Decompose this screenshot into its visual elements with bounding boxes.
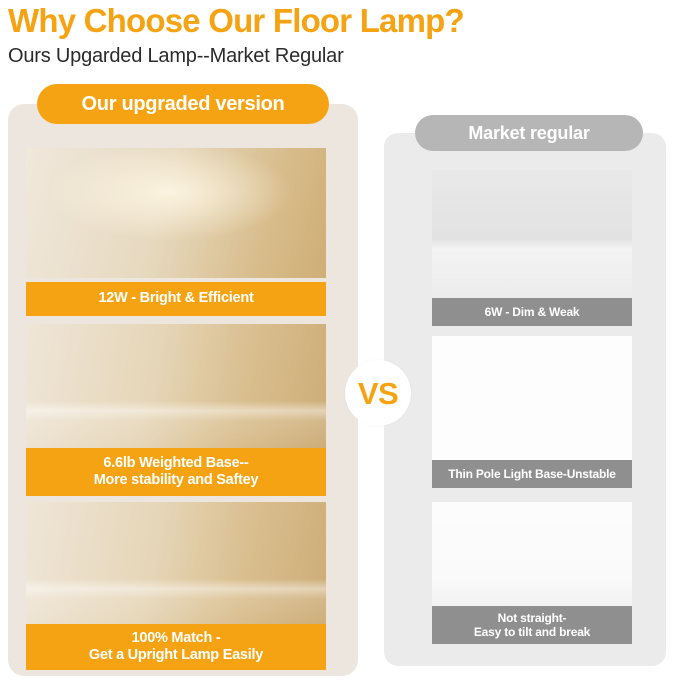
page-title: Why Choose Our Floor Lamp? bbox=[8, 2, 668, 40]
cool-gray-background bbox=[432, 170, 632, 296]
market-pole-caption-line2: Easy to tilt and break bbox=[474, 625, 590, 639]
ours-pole-caption: 100% Match - Get a Upright Lamp Easily bbox=[26, 624, 326, 670]
market-bulb-caption-line1: 6W - Dim & Weak bbox=[485, 305, 580, 319]
market-card-pole: Not straight- Easy to tilt and break bbox=[432, 502, 632, 644]
warm-gradient-background bbox=[26, 324, 326, 448]
ours-base-media bbox=[26, 324, 326, 448]
white-background-2 bbox=[432, 502, 632, 606]
market-pole-media bbox=[432, 502, 632, 606]
ours-bulb-media bbox=[26, 148, 326, 278]
ours-base-caption: 6.6lb Weighted Base-- More stability and… bbox=[26, 448, 326, 496]
badge-our-upgraded-version-label: Our upgraded version bbox=[82, 93, 285, 116]
ours-base-caption-line2: More stability and Saftey bbox=[94, 472, 259, 489]
badge-market-regular: Market regular bbox=[415, 115, 643, 151]
market-bulb-media bbox=[432, 170, 632, 296]
ours-card-pole: 100% Match - Get a Upright Lamp Easily bbox=[26, 502, 326, 670]
page-subtitle: Ours Upgarded Lamp--Market Regular bbox=[8, 43, 668, 69]
badge-market-regular-label: Market regular bbox=[468, 123, 589, 144]
vs-label: VS bbox=[358, 378, 398, 409]
ours-card-base: 6.6lb Weighted Base-- More stability and… bbox=[26, 324, 326, 496]
ours-bulb-caption-line1: 12W - Bright & Efficient bbox=[98, 290, 253, 307]
market-card-bulb: 6W - Dim & Weak bbox=[432, 170, 632, 326]
ours-base-caption-line1: 6.6lb Weighted Base-- bbox=[103, 455, 248, 472]
ours-bulb-caption: 12W - Bright & Efficient bbox=[26, 282, 326, 316]
ours-pole-caption-line2: Get a Upright Lamp Easily bbox=[89, 647, 263, 664]
market-pole-caption-line1: Not straight- bbox=[498, 611, 567, 625]
market-pole-caption: Not straight- Easy to tilt and break bbox=[432, 606, 632, 644]
ours-pole-caption-line1: 100% Match - bbox=[132, 630, 221, 647]
market-bulb-caption: 6W - Dim & Weak bbox=[432, 298, 632, 326]
ours-card-bulb: 12W - Bright & Efficient bbox=[26, 148, 326, 316]
warm-gradient-background-2 bbox=[26, 502, 326, 626]
market-card-base: Thin Pole Light Base-Unstable bbox=[432, 336, 632, 488]
white-background bbox=[432, 336, 632, 460]
market-base-media bbox=[432, 336, 632, 460]
badge-our-upgraded-version: Our upgraded version bbox=[37, 84, 329, 124]
vs-badge: VS bbox=[345, 360, 411, 426]
ours-pole-media bbox=[26, 502, 326, 626]
market-base-caption-line1: Thin Pole Light Base-Unstable bbox=[448, 467, 616, 481]
market-base-caption: Thin Pole Light Base-Unstable bbox=[432, 460, 632, 488]
warm-room-background bbox=[26, 148, 326, 278]
header: Why Choose Our Floor Lamp? Ours Upgarded… bbox=[8, 0, 668, 69]
